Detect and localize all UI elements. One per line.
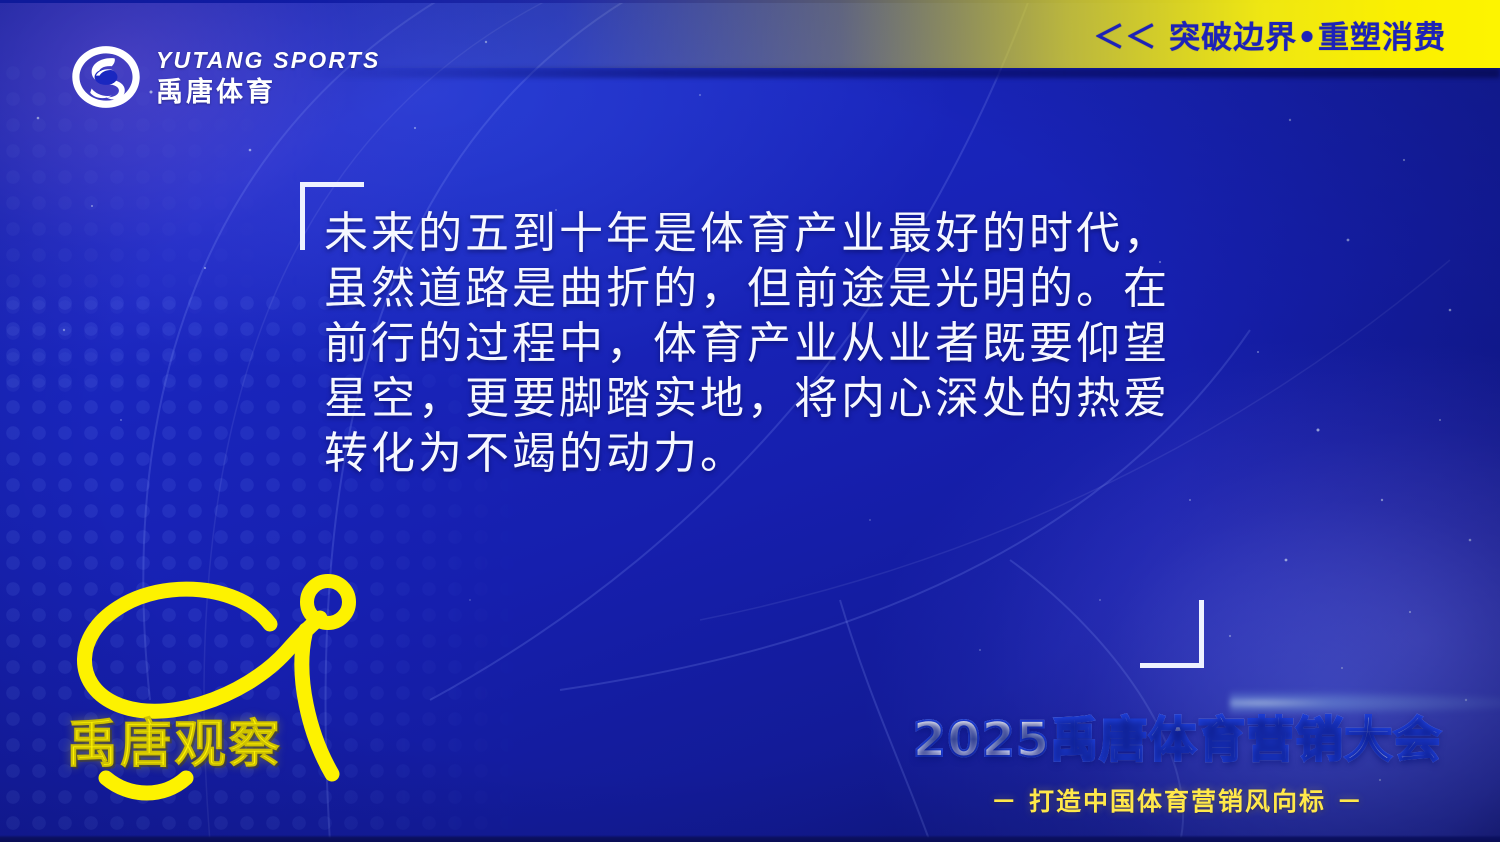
quote-line: 转化为不竭的动力。 <box>324 426 1204 481</box>
conference-title: 2025禹唐体育营销大会 <box>905 700 1450 770</box>
column-logo-label: 禹唐观察 <box>66 702 282 777</box>
top-banner-text: ＜＜ 突破边界•重塑消费 <box>1093 12 1446 57</box>
yellow-loop-swoosh-icon <box>44 556 374 826</box>
conference-logo: 2025禹唐体育营销大会 － 打造中国体育营销风向标 － <box>905 700 1450 818</box>
bottom-edge-band <box>0 835 1500 842</box>
quote-text: 未来的五到十年是体育产业最好的时代， 虽然道路是曲折的，但前途是光明的。在 前行… <box>324 206 1204 481</box>
quote-block: 未来的五到十年是体育产业最好的时代， 虽然道路是曲折的，但前途是光明的。在 前行… <box>296 178 1208 518</box>
yutang-swirl-icon <box>70 44 142 110</box>
quote-line: 星空，更要脚踏实地，将内心深处的热爱 <box>324 371 1204 426</box>
quote-corner-bottom-right <box>1140 600 1204 668</box>
quote-line: 未来的五到十年是体育产业最好的时代， <box>324 206 1204 261</box>
brand-chinese-name: 禹唐体育 <box>156 79 381 106</box>
quote-line: 虽然道路是曲折的，但前途是光明的。在 <box>324 261 1204 316</box>
presentation-slide: ＜＜ 突破边界•重塑消费 YUTANG SPORTS 禹唐体育 未来的五到十年是… <box>0 0 1500 842</box>
column-logo: 禹唐观察 <box>44 556 374 826</box>
conference-subtitle: － 打造中国体育营销风向标 － <box>905 782 1450 818</box>
brand-english-name: YUTANG SPORTS <box>156 49 381 72</box>
brand-wordmark: YUTANG SPORTS 禹唐体育 <box>156 49 381 106</box>
quote-line: 前行的过程中，体育产业从业者既要仰望 <box>324 316 1204 371</box>
top-banner-shadow <box>300 68 1500 78</box>
top-banner: ＜＜ 突破边界•重塑消费 <box>300 0 1500 68</box>
brand-logo: YUTANG SPORTS 禹唐体育 <box>70 44 381 110</box>
